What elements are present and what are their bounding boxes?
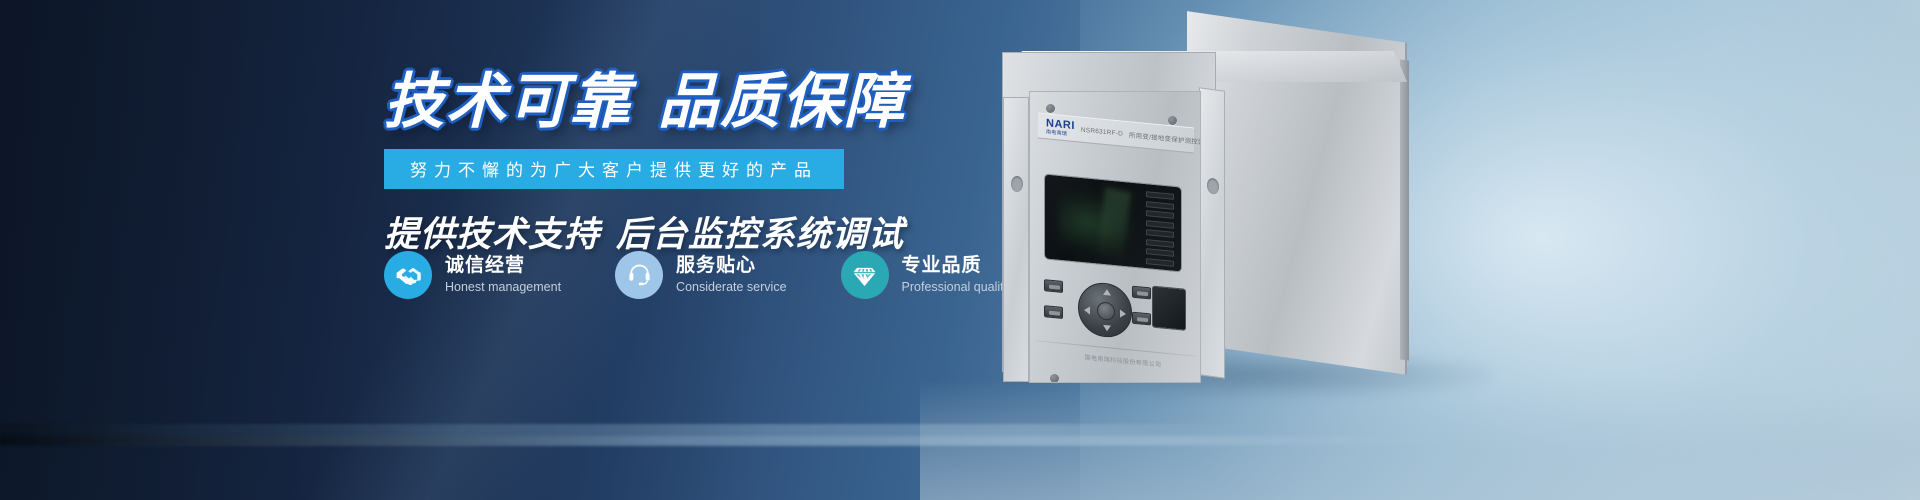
handshake-icon-circle	[384, 251, 432, 299]
plus-button[interactable]	[1132, 312, 1151, 326]
motion-streak-band	[0, 424, 1260, 446]
led-indicator-column	[1146, 191, 1174, 266]
arrow-left-icon[interactable]	[1084, 306, 1090, 315]
headset-icon	[626, 262, 653, 289]
function-button-bottom-left[interactable]	[1044, 305, 1063, 319]
arrow-up-icon[interactable]	[1103, 289, 1111, 296]
motion-streak-band-secondary	[0, 436, 1460, 445]
device-control-panel	[1040, 273, 1190, 349]
handshake-icon	[394, 261, 422, 289]
feature-label-en: Considerate service	[676, 280, 786, 294]
led-indicator	[1146, 248, 1174, 257]
feature-text-block: 诚信经营 Honest management	[445, 255, 561, 294]
promo-banner: 技术可靠品质保障 努力不懈的为广大客户提供更好的产品 提供技术支持后台监控系统调…	[0, 0, 1920, 500]
dpad-center-button[interactable]	[1097, 301, 1115, 321]
led-indicator	[1146, 258, 1174, 267]
subtitle-bar: 努力不懈的为广大客户提供更好的产品	[384, 149, 844, 189]
screw-icon	[1046, 104, 1055, 113]
device-front-assembly: NARI 南电南瑞 NSR631RF-D 所用变/接地变保护测控装置	[1002, 52, 1216, 372]
diamond-icon-circle	[841, 251, 889, 299]
device-mounting-ear-right	[1199, 87, 1225, 378]
feature-item-honest-management[interactable]: 诚信经营 Honest management	[384, 251, 561, 299]
led-indicator	[1146, 201, 1174, 210]
product-device-image: NARI 南电南瑞 NSR631RF-D 所用变/接地变保护测控装置	[980, 22, 1580, 402]
screw-icon	[1050, 374, 1059, 383]
headset-icon-circle	[615, 251, 663, 299]
feature-label-cn: 诚信经营	[445, 255, 561, 277]
function-button-top-left[interactable]	[1044, 279, 1063, 293]
device-front-face: NARI 南电南瑞 NSR631RF-D 所用变/接地变保护测控装置	[1029, 91, 1201, 383]
headline-primary-part2: 品质保障	[658, 68, 906, 135]
feature-item-considerate-service[interactable]: 服务贴心 Considerate service	[615, 251, 786, 299]
subtitle-bar-text: 努力不懈的为广大客户提供更好的产品	[410, 161, 818, 180]
feature-label-cn: 服务贴心	[676, 255, 786, 277]
screw-icon	[1168, 116, 1177, 125]
mounting-hole-icon	[1011, 176, 1023, 192]
headline-secondary-part2: 后台监控系统调试	[616, 215, 904, 254]
ir-communication-port[interactable]	[1152, 286, 1186, 331]
led-indicator	[1146, 220, 1174, 229]
led-indicator	[1146, 210, 1174, 219]
brand-logo: NARI 南电南瑞	[1046, 118, 1075, 138]
device-mounting-ear-left	[1003, 97, 1029, 382]
arrow-down-icon[interactable]	[1103, 325, 1111, 332]
function-button-top-right[interactable]	[1132, 286, 1151, 300]
device-model-description: 所用变/接地变保护测控装置	[1129, 129, 1201, 147]
feature-list: 诚信经营 Honest management 服务贴心 Considerate …	[384, 251, 1010, 299]
led-indicator	[1146, 191, 1174, 200]
feature-text-block: 服务贴心 Considerate service	[676, 255, 786, 294]
device-model-number: NSR631RF-D	[1081, 126, 1123, 137]
headline-secondary-part1: 提供技术支持	[384, 215, 600, 254]
mounting-hole-icon	[1207, 177, 1219, 195]
dpad-navigation-cluster[interactable]	[1078, 280, 1132, 339]
headline-primary-part1: 技术可靠	[384, 68, 632, 135]
device-lcd-screen[interactable]	[1044, 173, 1182, 272]
led-indicator	[1146, 229, 1174, 238]
led-indicator	[1146, 239, 1174, 248]
device-rear-edge	[1400, 59, 1409, 360]
feature-label-en: Honest management	[445, 280, 561, 294]
diamond-icon	[851, 262, 878, 289]
manufacturer-name: 国电南瑞科技股份有限公司	[1048, 349, 1198, 372]
arrow-right-icon[interactable]	[1120, 309, 1126, 318]
